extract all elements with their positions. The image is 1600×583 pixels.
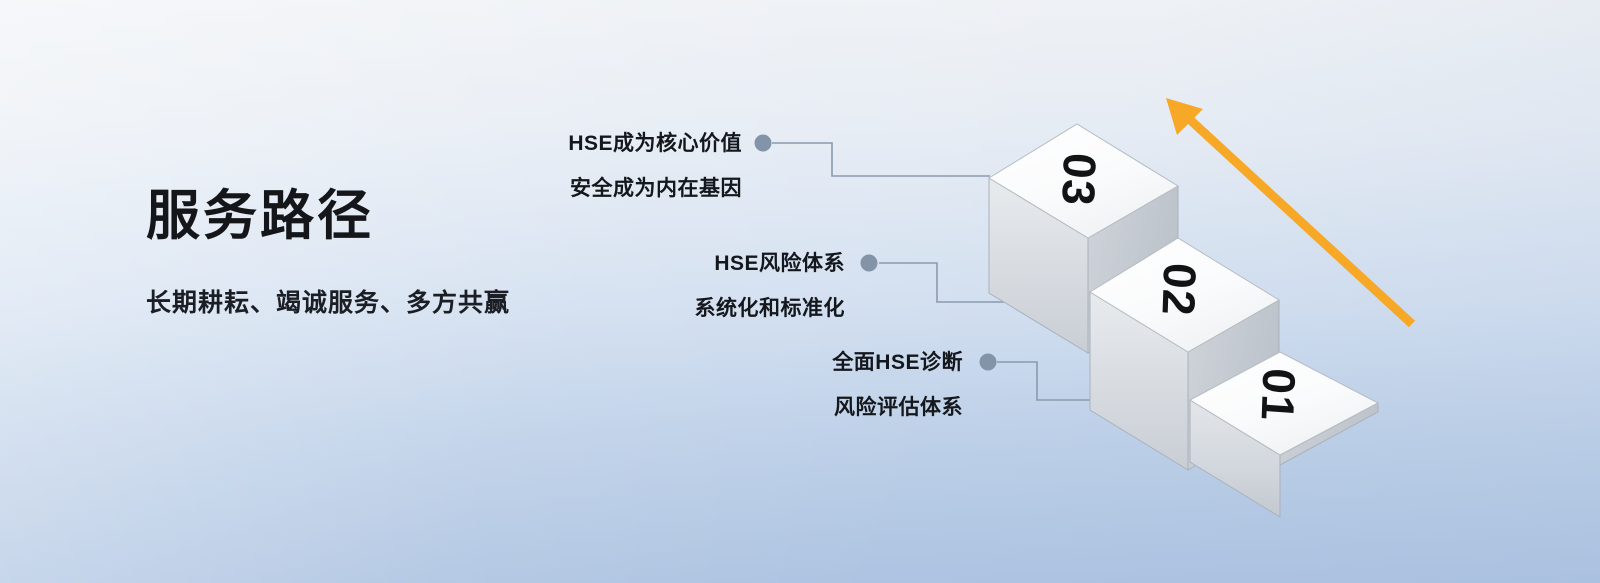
connector-dot-01: [980, 354, 997, 371]
slide-canvas: 服务路径 长期耕耘、竭诚服务、多方共赢 HSE成为核心价值 安全成为内在基因 H…: [0, 0, 1600, 583]
connector-dot-02: [861, 255, 878, 272]
step-01-number: 01: [1252, 367, 1306, 424]
connector-dot-03: [755, 135, 772, 152]
connector-dots: [755, 135, 997, 371]
step-02-number: 02: [1152, 261, 1206, 318]
step-03-number: 03: [1052, 151, 1106, 208]
staircase-diagram: 03 02 01: [0, 0, 1600, 583]
connector-line-03: [772, 143, 990, 176]
